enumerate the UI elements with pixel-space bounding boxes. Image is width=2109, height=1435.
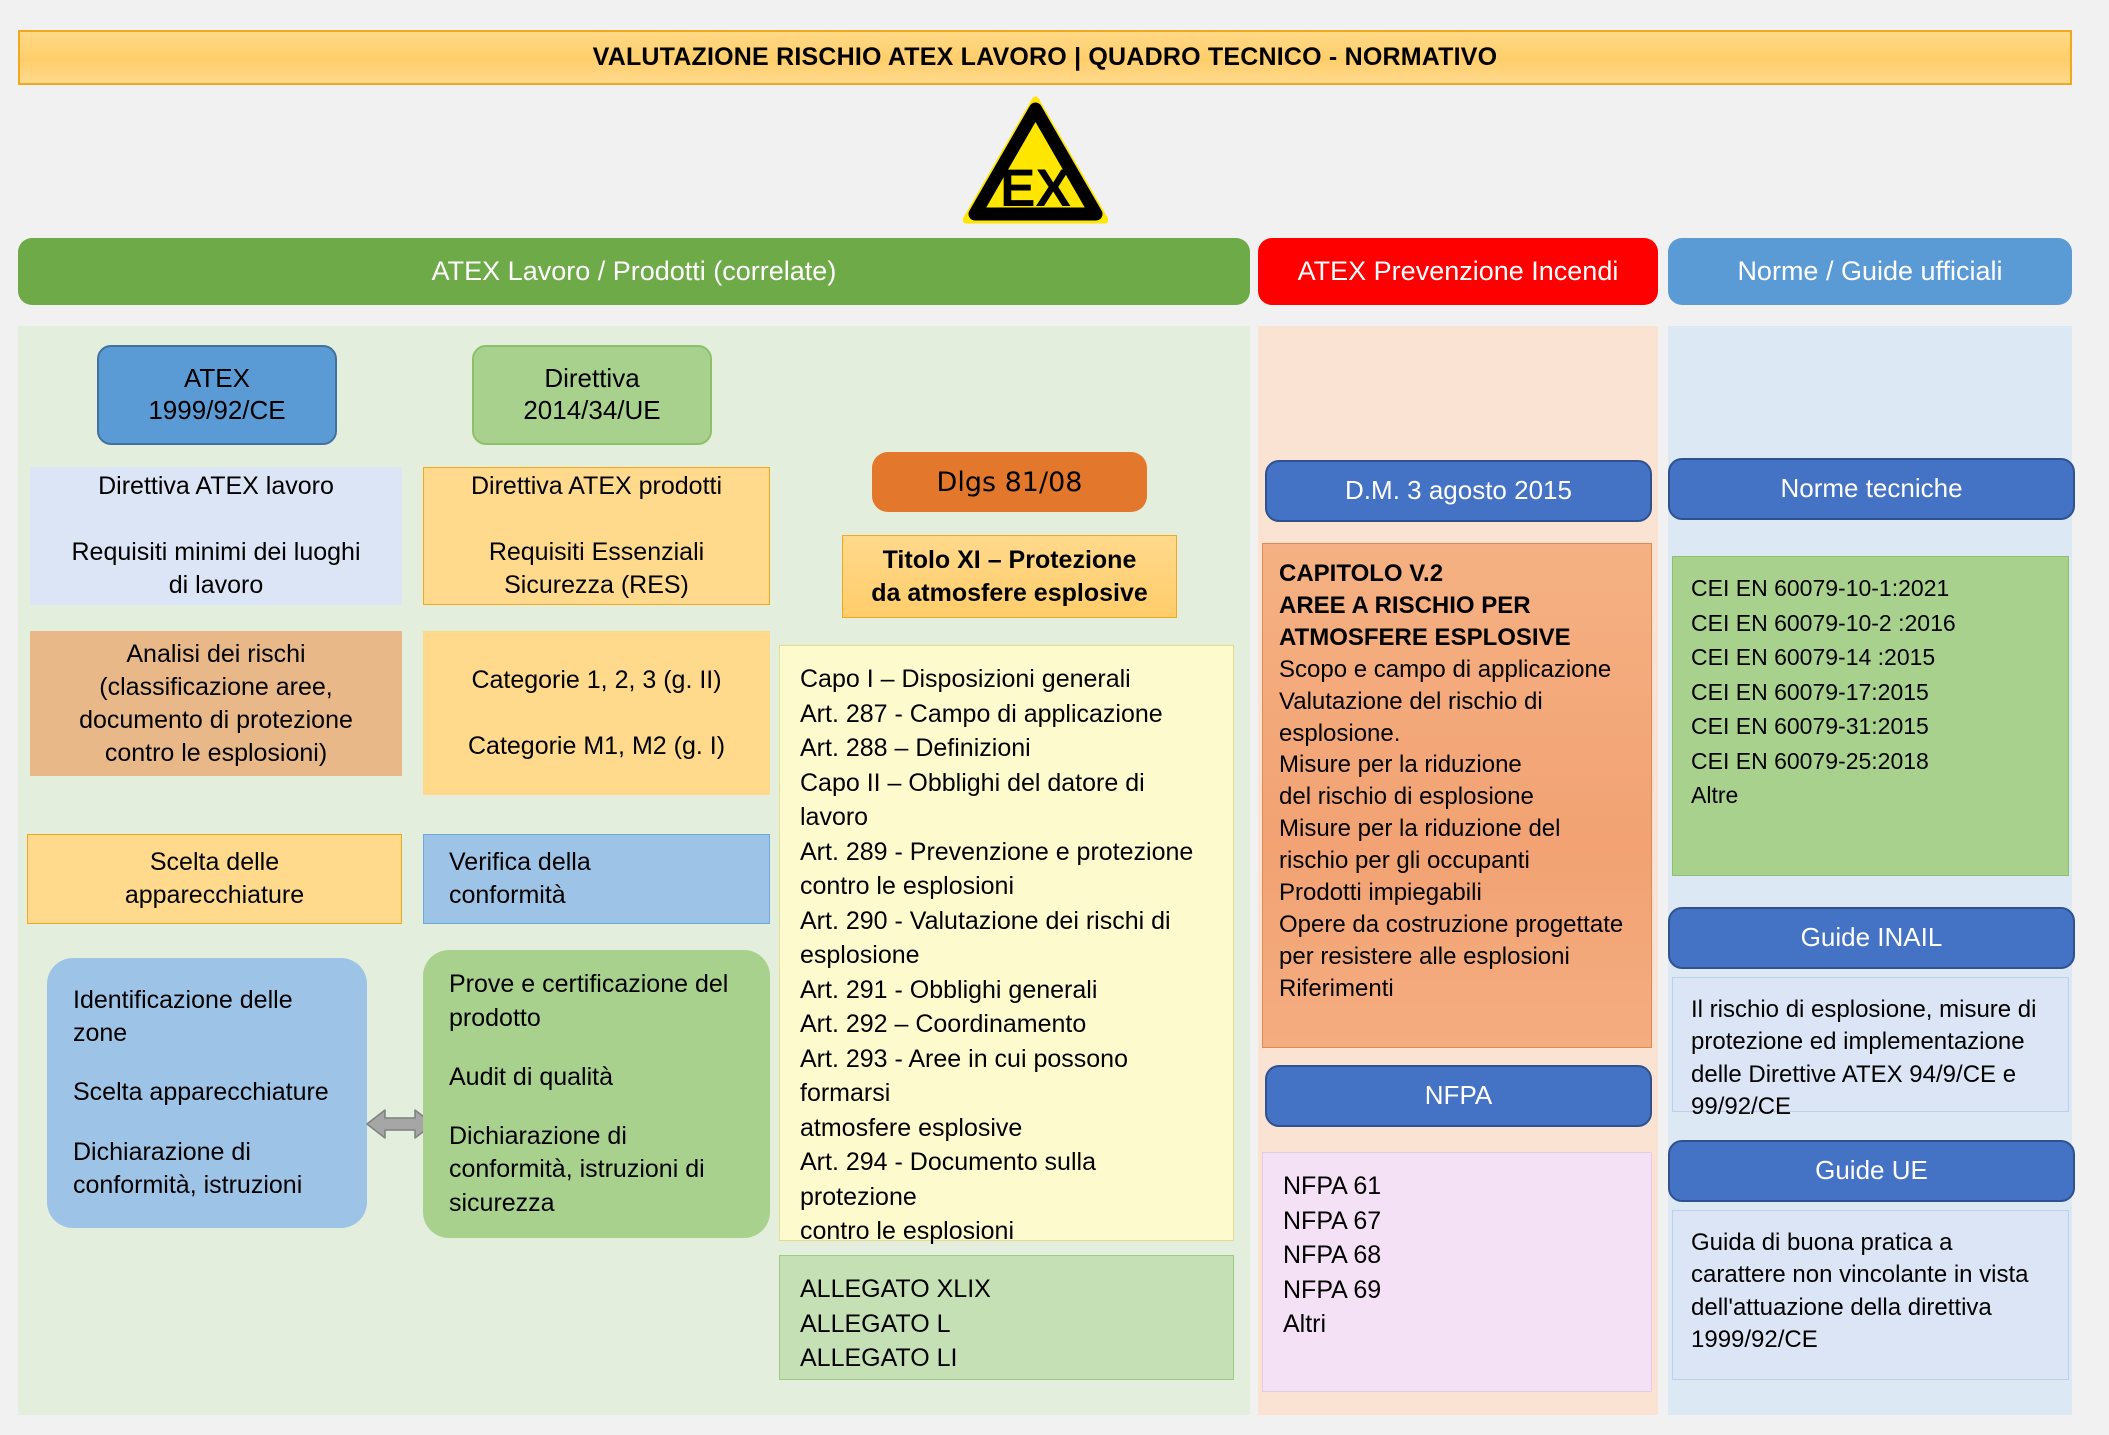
box-analisi-dei-rischi: Analisi dei rischi (classificazione aree… [30, 631, 402, 776]
box-verifica-conformita-text: Verifica della conformità [449, 846, 769, 912]
box-capitolo-v2-body: Scopo e campo di applicazione Valutazion… [1279, 654, 1635, 1005]
guide-ue-description: Guida di buona pratica a carattere non v… [1691, 1229, 2029, 1353]
column-header-norme-guide-ufficiali[interactable]: Norme / Guide ufficiali [1668, 238, 2072, 305]
prove-item-2: Dichiarazione di conformità, istruzioni … [449, 1120, 744, 1220]
box-direttiva-atex-prodotti: Direttiva ATEX prodotti Requisiti Essenz… [423, 467, 770, 605]
box-allegati-text: ALLEGATO XLIX ALLEGATO L ALLEGATO LI [800, 1272, 1213, 1376]
pill-direttiva-2014-34-ue-label: Direttiva 2014/34/UE [523, 363, 660, 426]
pill-nfpa-label: NFPA [1425, 1080, 1492, 1112]
box-allegati: ALLEGATO XLIX ALLEGATO L ALLEGATO LI [779, 1255, 1234, 1380]
box-articoli-titolo-xi: Capo I – Disposizioni generali Art. 287 … [779, 645, 1234, 1241]
pill-dlgs-81-08[interactable]: Dlgs 81/08 [872, 452, 1147, 512]
pill-dm-3-agosto-2015-label: D.M. 3 agosto 2015 [1345, 475, 1572, 507]
box-nfpa-list: NFPA 61 NFPA 67 NFPA 68 NFPA 69 Altri [1262, 1152, 1652, 1392]
pill-guide-ue-label: Guide UE [1815, 1155, 1928, 1187]
pill-guide-inail[interactable]: Guide INAIL [1668, 907, 2075, 969]
pill-atex-1999-92-ce[interactable]: ATEX 1999/92/CE [97, 345, 337, 445]
box-nfpa-list-text: NFPA 61 NFPA 67 NFPA 68 NFPA 69 Altri [1283, 1169, 1631, 1342]
pill-atex-1999-92-ce-label: ATEX 1999/92/CE [148, 363, 285, 426]
pill-guide-inail-label: Guide INAIL [1801, 922, 1943, 954]
column-header-atex-prevenzione-incendi-label: ATEX Prevenzione Incendi [1298, 256, 1619, 287]
pill-norme-tecniche-label: Norme tecniche [1780, 473, 1962, 505]
identificazione-item-1: Scelta apparecchiature [73, 1076, 341, 1109]
box-titolo-xi-text: Titolo XI – Protezione da atmosfere espl… [871, 544, 1148, 609]
box-norme-tecniche-list-text: CEI EN 60079-10-1:2021 CEI EN 60079-10-2… [1691, 571, 2050, 813]
box-norme-tecniche-list: CEI EN 60079-10-1:2021 CEI EN 60079-10-2… [1672, 556, 2069, 876]
column-header-norme-guide-ufficiali-label: Norme / Guide ufficiali [1737, 256, 2002, 287]
ex-hazard-triangle-icon: EX [963, 96, 1108, 226]
box-direttiva-atex-lavoro: Direttiva ATEX lavoro Requisiti minimi d… [30, 467, 402, 605]
column-header-atex-prevenzione-incendi[interactable]: ATEX Prevenzione Incendi [1258, 238, 1658, 305]
box-scelta-delle-apparecchiature-text: Scelta delle apparecchiature [28, 846, 401, 912]
box-verifica-conformita: Verifica della conformità [423, 834, 770, 924]
box-capitolo-v2-heading: CAPITOLO V.2 AREE A RISCHIO PER ATMOSFER… [1279, 558, 1635, 654]
box-categorie-text: Categorie 1, 2, 3 (g. II) Categorie M1, … [423, 664, 770, 763]
guide-inail-description: Il rischio di esplosione, misure di prot… [1691, 996, 2036, 1120]
box-direttiva-atex-prodotti-text: Direttiva ATEX prodotti Requisiti Essenz… [424, 470, 769, 602]
prove-item-1: Audit di qualità [449, 1061, 744, 1094]
diagram-canvas: VALUTAZIONE RISCHIO ATEX LAVORO | QUADRO… [0, 0, 2109, 1435]
box-prove-certificazione: Prove e certificazione del prodotto Audi… [423, 950, 770, 1238]
column-header-atex-lavoro[interactable]: ATEX Lavoro / Prodotti (correlate) [18, 238, 1250, 305]
pill-dlgs-81-08-label: Dlgs 81/08 [937, 467, 1083, 498]
box-guide-inail-text: Il rischio di esplosione, misure di prot… [1672, 977, 2069, 1112]
pill-dm-3-agosto-2015[interactable]: D.M. 3 agosto 2015 [1265, 460, 1652, 522]
box-identificazione-zone: Identificazione delle zone Scelta appare… [47, 958, 367, 1228]
pill-nfpa[interactable]: NFPA [1265, 1065, 1652, 1127]
column-header-atex-lavoro-label: ATEX Lavoro / Prodotti (correlate) [432, 256, 837, 287]
page-title-banner: VALUTAZIONE RISCHIO ATEX LAVORO | QUADRO… [18, 30, 2072, 85]
box-direttiva-atex-lavoro-text: Direttiva ATEX lavoro Requisiti minimi d… [30, 470, 402, 602]
box-scelta-delle-apparecchiature: Scelta delle apparecchiature [27, 834, 402, 924]
identificazione-item-2: Dichiarazione di conformità, istruzioni [73, 1136, 341, 1203]
box-analisi-dei-rischi-text: Analisi dei rischi (classificazione aree… [30, 638, 402, 770]
page-title: VALUTAZIONE RISCHIO ATEX LAVORO | QUADRO… [593, 43, 1498, 72]
pill-guide-ue[interactable]: Guide UE [1668, 1140, 2075, 1202]
pill-direttiva-2014-34-ue[interactable]: Direttiva 2014/34/UE [472, 345, 712, 445]
prove-item-0: Prove e certificazione del prodotto [449, 968, 744, 1035]
identificazione-item-0: Identificazione delle zone [73, 984, 341, 1051]
box-titolo-xi: Titolo XI – Protezione da atmosfere espl… [842, 535, 1177, 618]
box-categorie: Categorie 1, 2, 3 (g. II) Categorie M1, … [423, 631, 770, 795]
box-capitolo-v2: CAPITOLO V.2 AREE A RISCHIO PER ATMOSFER… [1262, 543, 1652, 1048]
box-guide-ue-text: Guida di buona pratica a carattere non v… [1672, 1210, 2069, 1380]
pill-norme-tecniche[interactable]: Norme tecniche [1668, 458, 2075, 520]
svg-text:EX: EX [1000, 159, 1071, 218]
